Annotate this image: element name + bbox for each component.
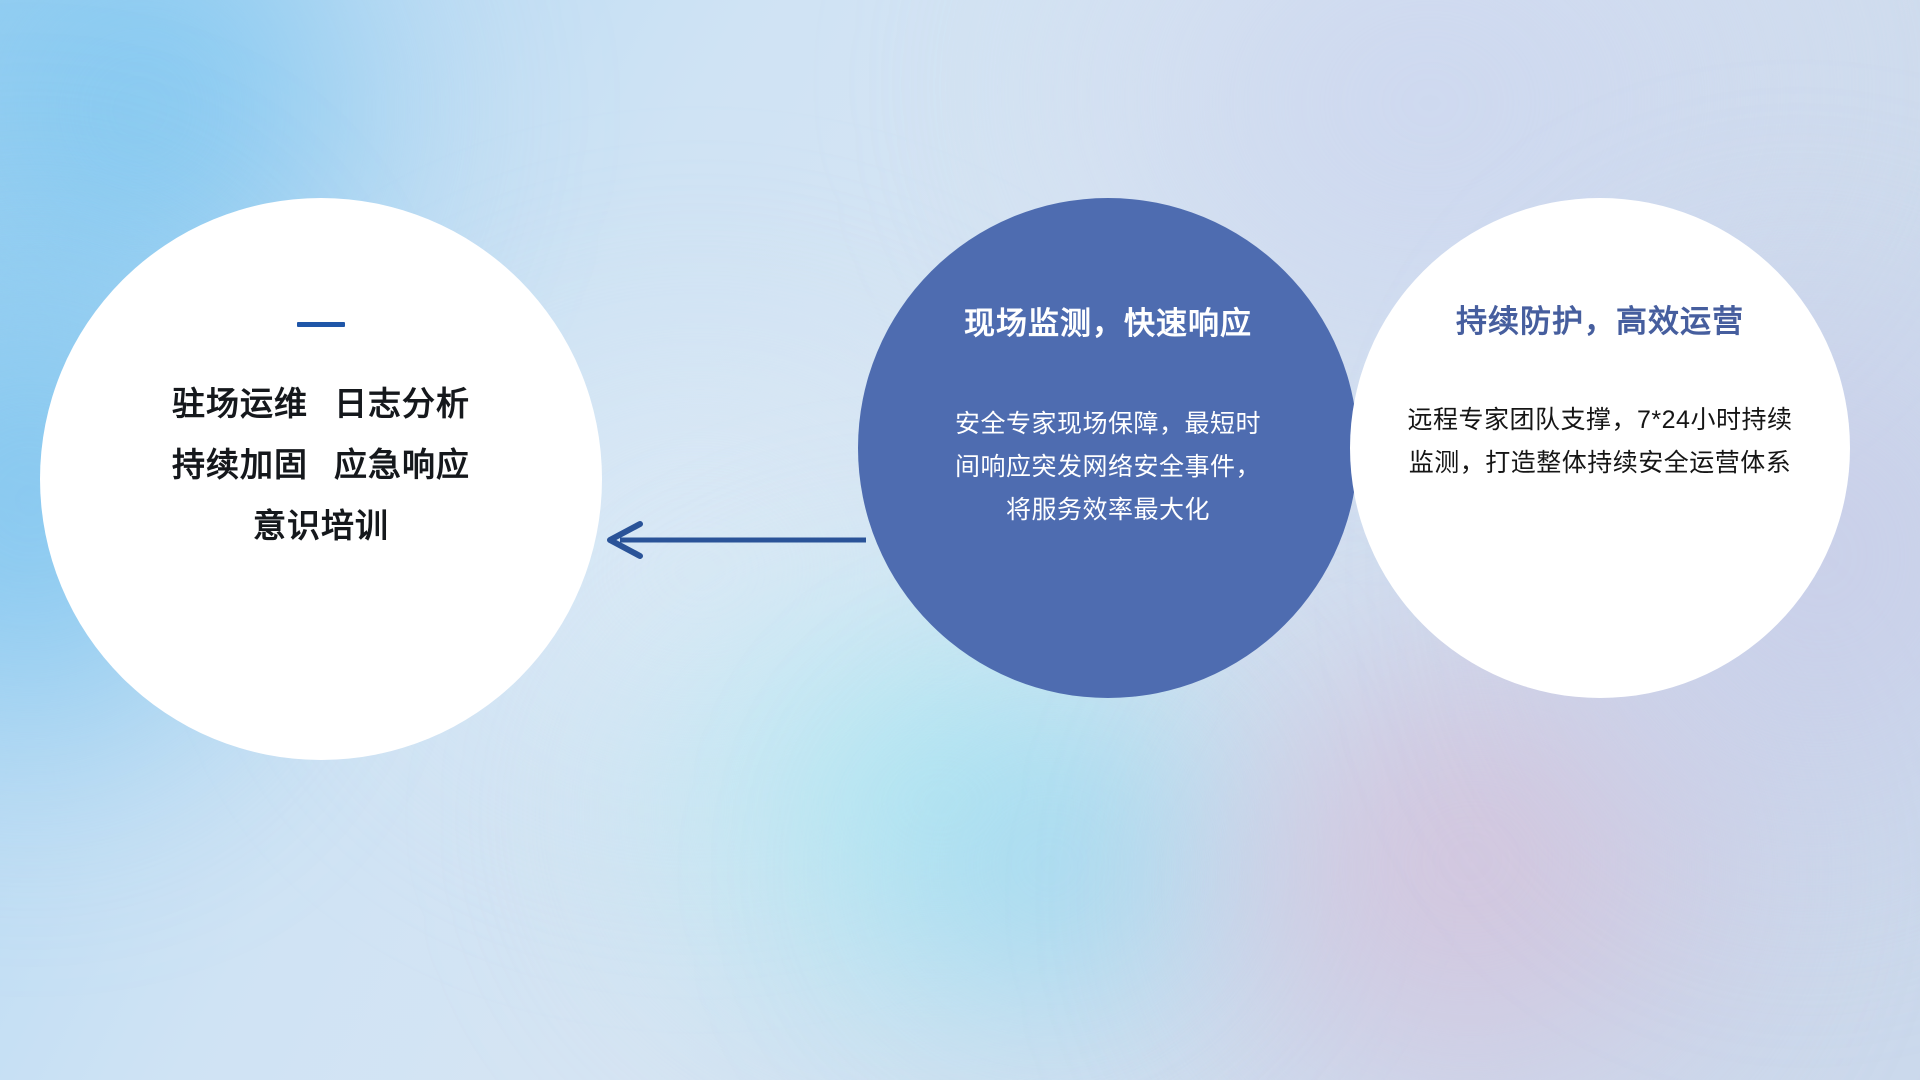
capabilities-list: 驻场运维日志分析 持续加固应急响应 意识培训 [172,373,470,556]
capability-item: 驻场运维 [172,385,308,422]
capability-item: 日志分析 [334,385,470,422]
onsite-monitoring-body: 安全专家现场保障，最短时间响应突发网络安全事件，将服务效率最大化 [948,403,1268,532]
divider-line [297,322,345,327]
continuous-protection-body: 远程专家团队支撑，7*24小时持续监测，打造整体持续安全运营体系 [1400,399,1800,485]
continuous-protection-title: 持续防护，高效运营 [1456,296,1744,341]
capabilities-content: 驻场运维日志分析 持续加固应急响应 意识培训 [40,198,602,760]
left-pointing-arrow [600,518,866,562]
onsite-monitoring-title: 现场监测，快速响应 [964,298,1252,343]
capabilities-row: 持续加固应急响应 [172,434,470,495]
capability-item: 应急响应 [334,446,470,483]
arrow-icon [600,518,866,562]
capability-item: 持续加固 [172,446,308,483]
capabilities-row: 意识培训 [172,495,470,556]
onsite-monitoring-content: 现场监测，快速响应 安全专家现场保障，最短时间响应突发网络安全事件，将服务效率最… [858,198,1358,698]
capability-item: 意识培训 [253,507,389,544]
continuous-protection-content: 持续防护，高效运营 远程专家团队支撑，7*24小时持续监测，打造整体持续安全运营… [1350,198,1850,698]
slide-canvas: 驻场运维日志分析 持续加固应急响应 意识培训 现场监测，快速响应 安全专家现场保… [0,0,1920,1080]
capabilities-row: 驻场运维日志分析 [172,373,470,434]
